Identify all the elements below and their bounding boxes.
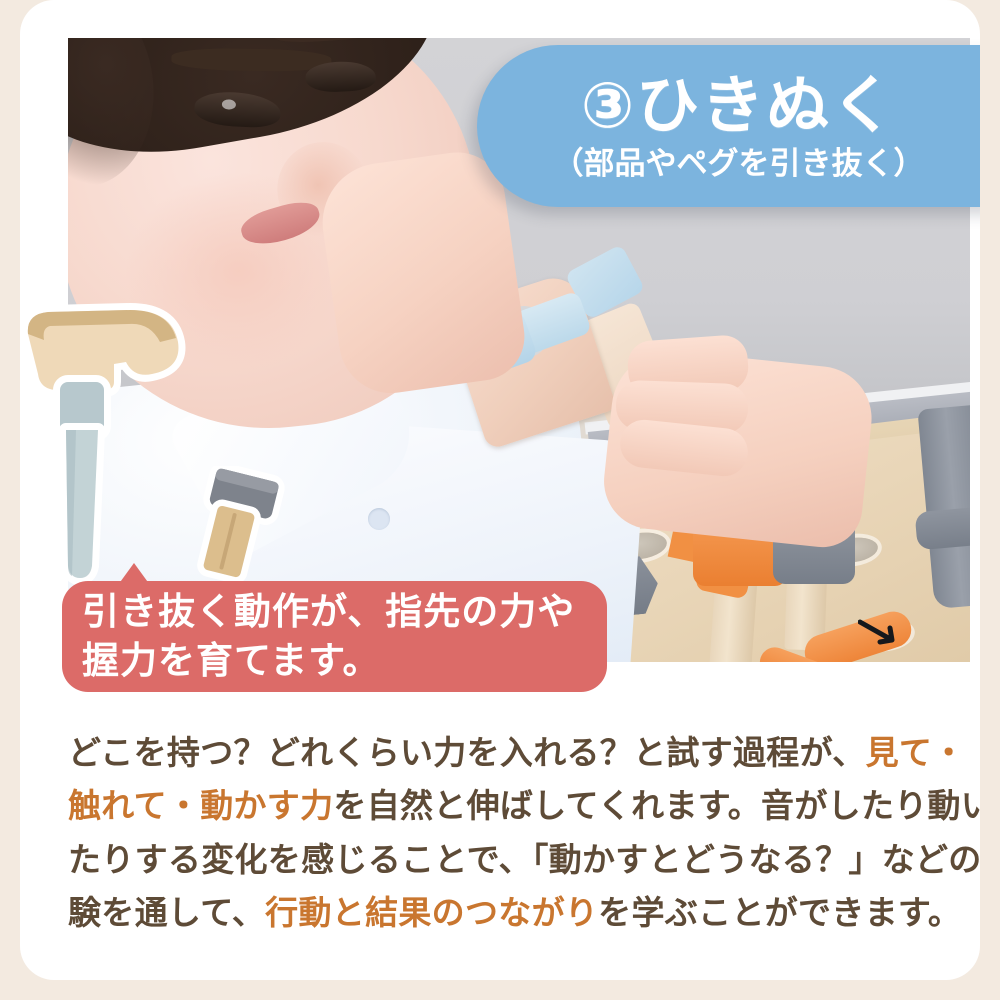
paragraph-highlight: 行動と結果のつながり bbox=[265, 893, 598, 932]
step-heading-subtitle: （部品やペグを引き抜く） bbox=[553, 149, 925, 180]
page-root: { "theme": { "page_background": "#F3EAE0… bbox=[0, 0, 1000, 1000]
paragraph-highlight: 見て・ bbox=[866, 733, 966, 772]
child-left-hand bbox=[315, 146, 530, 400]
pink-banner-line-1: 引き抜く動作が、指先の力や bbox=[82, 588, 607, 637]
pink-callout-banner: 引き抜く動作が、指先の力や 握力を育てます。 bbox=[62, 581, 607, 692]
paragraph-line-4: 験を通して、行動と結果のつながりを学ぶことができます。 bbox=[68, 886, 973, 939]
bench-arrow-icon bbox=[858, 618, 904, 648]
paragraph-text: たりする変化を感じることで、「動かすとどうなる？」などの体 bbox=[68, 840, 980, 879]
step-heading-title: ③ひきぬく bbox=[581, 74, 896, 137]
paragraph-line-1: どこを持つ？どれくらい力を入れる？と試す過程が、見て・ bbox=[68, 726, 973, 779]
pink-banner-line-2: 握力を育てます。 bbox=[82, 637, 607, 686]
paragraph-line-3: たりする変化を感じることで、「動かすとどうなる？」などの体 bbox=[68, 833, 973, 886]
paragraph-highlight: 触れて・動かす力 bbox=[68, 786, 333, 825]
step-heading-badge: ③ひきぬく （部品やペグを引き抜く） bbox=[477, 45, 980, 207]
paragraph-text: を自然と伸ばしてくれます。音がしたり動い bbox=[333, 786, 980, 825]
paragraph-line-2: 触れて・動かす力を自然と伸ばしてくれます。音がしたり動い bbox=[68, 779, 973, 832]
wooden-mallet-toy-cutout bbox=[172, 466, 302, 586]
paragraph-text: どこを持つ？どれくらい力を入れる？と試す過程が、 bbox=[68, 733, 866, 772]
paragraph-text: を学ぶことができます。 bbox=[598, 893, 961, 932]
child-hair-side bbox=[68, 38, 163, 194]
content-card: 1 2 3 4 5 6 7 8 9 bbox=[20, 0, 980, 980]
shirt-button bbox=[368, 508, 390, 530]
body-paragraph: どこを持つ？どれくらい力を入れる？と試す過程が、見て・ 触れて・動かす力を自然と… bbox=[68, 726, 973, 940]
paragraph-text: 験を通して、 bbox=[68, 893, 265, 932]
